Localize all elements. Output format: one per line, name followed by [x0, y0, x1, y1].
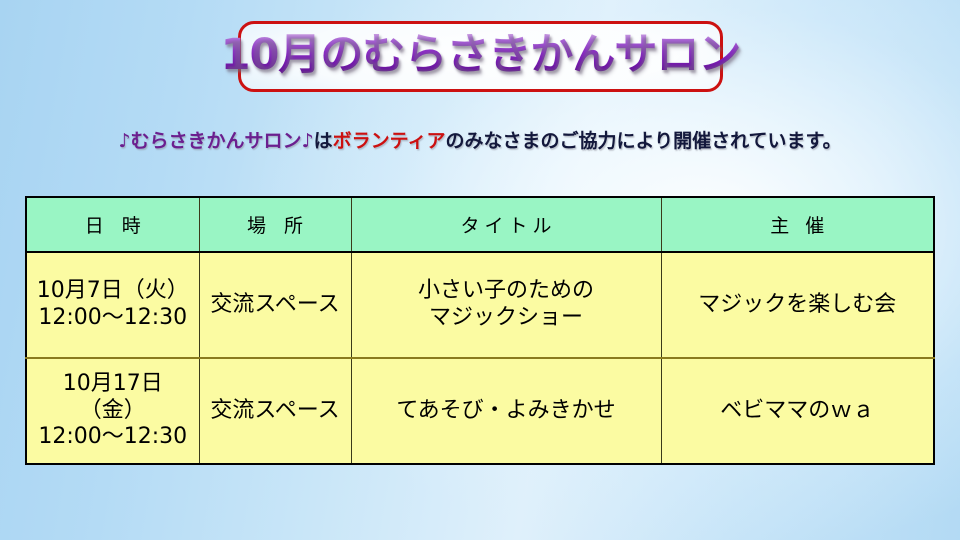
column-header-place: 場 所: [199, 197, 351, 252]
column-header-date: 日 時: [26, 197, 199, 252]
subtitle-line: ♪むらさきかんサロン♪はボランティアのみなさまのご協力により開催されています。: [0, 126, 960, 153]
table-row: 10月17日（金） 12:00〜12:30 交流スペース てあそび・よみきかせ …: [26, 358, 934, 464]
cell-date: 10月17日（金） 12:00〜12:30: [26, 358, 199, 464]
cell-title: 小さい子のための マジックショー: [351, 252, 661, 358]
cell-organizer: ベビママのｗａ: [661, 358, 934, 464]
title-banner: 10月のむらさきかんサロン: [238, 21, 723, 92]
subtitle-tail: のみなさまのご協力により開催されています。: [446, 130, 842, 152]
cell-place: 交流スペース: [199, 358, 351, 464]
subtitle-salon-name: ♪むらさきかんサロン♪: [118, 130, 313, 152]
subtitle-particle: は: [314, 130, 333, 152]
schedule-table: 日 時 場 所 タイトル 主 催 10月7日（火） 12:00〜12:30 交流…: [25, 196, 935, 465]
subtitle-volunteer-word: ボランティア: [333, 130, 446, 152]
page-title: 10月のむらさきかんサロン: [221, 34, 741, 77]
column-header-organizer: 主 催: [661, 197, 934, 252]
table-header-row: 日 時 場 所 タイトル 主 催: [26, 197, 934, 252]
column-header-title: タイトル: [351, 197, 661, 252]
cell-title: てあそび・よみきかせ: [351, 358, 661, 464]
cell-place: 交流スペース: [199, 252, 351, 358]
cell-organizer: マジックを楽しむ会: [661, 252, 934, 358]
cell-date: 10月7日（火） 12:00〜12:30: [26, 252, 199, 358]
table-row: 10月7日（火） 12:00〜12:30 交流スペース 小さい子のための マジッ…: [26, 252, 934, 358]
slide-canvas: 10月のむらさきかんサロン ♪むらさきかんサロン♪はボランティアのみなさまのご協…: [0, 0, 960, 540]
